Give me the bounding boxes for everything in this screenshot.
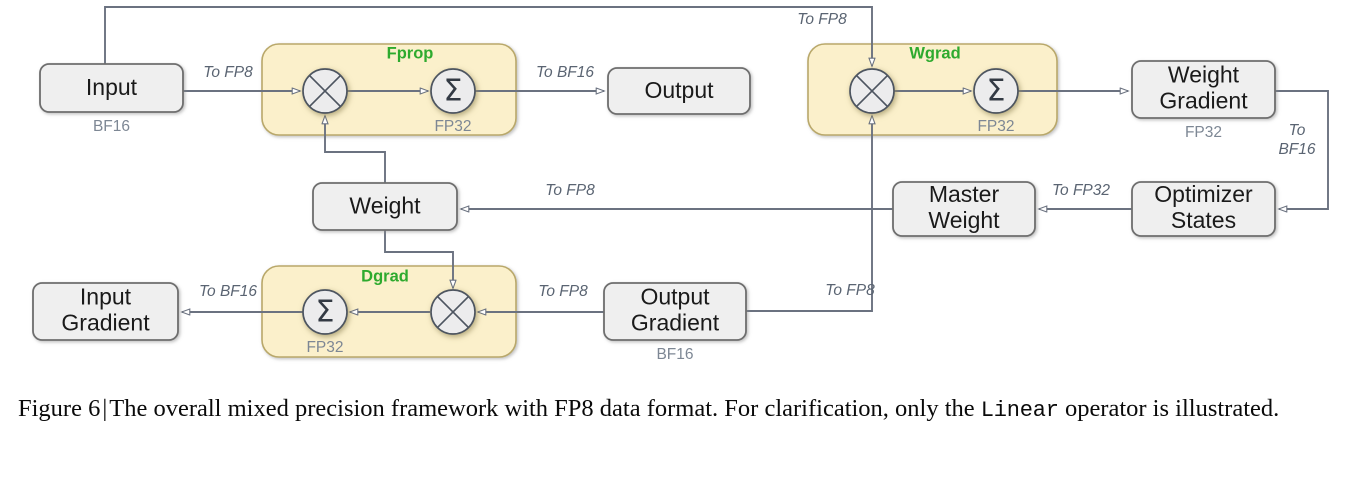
group-label-fprop: Fprop — [387, 44, 434, 62]
sum-dtype-dgrad: FP32 — [306, 339, 343, 356]
node-output-gradient: OutputGradientBF16 — [604, 283, 746, 363]
node-input: InputBF16 — [40, 64, 183, 135]
node-label2-optimizer-states: States — [1171, 207, 1236, 233]
figure-container: FpropWgradDgrad InputBF16OutputWeightGra… — [0, 0, 1360, 488]
figure-caption: Figure 6|The overall mixed precision fra… — [18, 392, 1344, 427]
node-label-optimizer-states: Optimizer — [1154, 181, 1253, 207]
sigma-icon: Σ — [987, 74, 1006, 109]
mixed-precision-diagram: FpropWgradDgrad InputBF16OutputWeightGra… — [0, 0, 1360, 382]
edge-label-outputgrad-to-dgrad: To FP8 — [538, 283, 588, 300]
operator-group-wgrad: Wgrad — [808, 44, 1057, 135]
sigma-icon: Σ — [316, 295, 335, 330]
node-label-input-gradient: Input — [80, 284, 132, 310]
sum-op-dgrad: ΣFP32 — [303, 290, 347, 356]
caption-separator: | — [100, 395, 109, 422]
edge-label-weightgrad-to-optimizer: To — [1289, 122, 1306, 139]
group-label-dgrad: Dgrad — [361, 267, 409, 285]
node-optimizer-states: OptimizerStates — [1132, 181, 1275, 236]
edge-label-dgrad-to-inputgrad: To BF16 — [199, 283, 257, 300]
node-input-gradient: InputGradient — [33, 283, 178, 340]
node-master-weight: MasterWeight — [893, 181, 1035, 236]
node-label2-input-gradient: Gradient — [61, 310, 150, 336]
sigma-icon: Σ — [444, 74, 463, 109]
operator-group-fprop: Fprop — [262, 44, 516, 135]
node-label-master-weight: Master — [929, 181, 1000, 207]
node-output: Output — [608, 68, 750, 114]
sum-dtype-fprop: FP32 — [434, 118, 471, 135]
node-dtype-input: BF16 — [93, 118, 130, 135]
caption-text-part2: operator is illustrated. — [1065, 395, 1279, 422]
node-label2-weight-gradient: Gradient — [1159, 88, 1248, 114]
node-label2-output-gradient: Gradient — [631, 310, 720, 336]
multiply-op-dgrad — [431, 290, 475, 334]
edge-label-outputgrad-to-wgrad: To FP8 — [825, 282, 875, 299]
edge-label-optimizer-to-master: To FP32 — [1052, 182, 1110, 199]
node-label2-master-weight: Weight — [928, 207, 1000, 233]
multiply-op-fprop — [303, 69, 347, 113]
node-weight: Weight — [313, 183, 457, 230]
sum-dtype-wgrad: FP32 — [977, 118, 1014, 135]
sum-op-fprop: ΣFP32 — [431, 69, 475, 135]
edge-label-input-to-fprop: To FP8 — [203, 64, 253, 81]
node-label-output: Output — [644, 77, 714, 103]
edge-label-input-to-wgrad: To FP8 — [797, 11, 847, 28]
edge-label-weightgrad-to-optimizer2: BF16 — [1278, 141, 1315, 158]
node-label-output-gradient: Output — [640, 284, 710, 310]
multiply-op-wgrad — [850, 69, 894, 113]
caption-text-part1: The overall mixed precision framework wi… — [109, 395, 974, 422]
node-label-weight: Weight — [349, 193, 421, 219]
node-label-input: Input — [86, 74, 138, 100]
tensor-nodes: InputBF16OutputWeightGradientFP32WeightM… — [33, 61, 1275, 363]
node-label-weight-gradient: Weight — [1168, 62, 1240, 88]
edge-label-master-to-weight: To FP8 — [545, 182, 595, 199]
group-label-wgrad: Wgrad — [909, 44, 960, 62]
caption-prefix: Figure 6 — [18, 395, 100, 422]
node-dtype-weight-gradient: FP32 — [1185, 124, 1222, 141]
edge-label-fprop-to-output: To BF16 — [536, 64, 594, 81]
caption-code-linear: Linear — [981, 398, 1059, 423]
node-weight-gradient: WeightGradientFP32 — [1132, 61, 1275, 141]
sum-op-wgrad: ΣFP32 — [974, 69, 1018, 135]
node-dtype-output-gradient: BF16 — [656, 346, 693, 363]
